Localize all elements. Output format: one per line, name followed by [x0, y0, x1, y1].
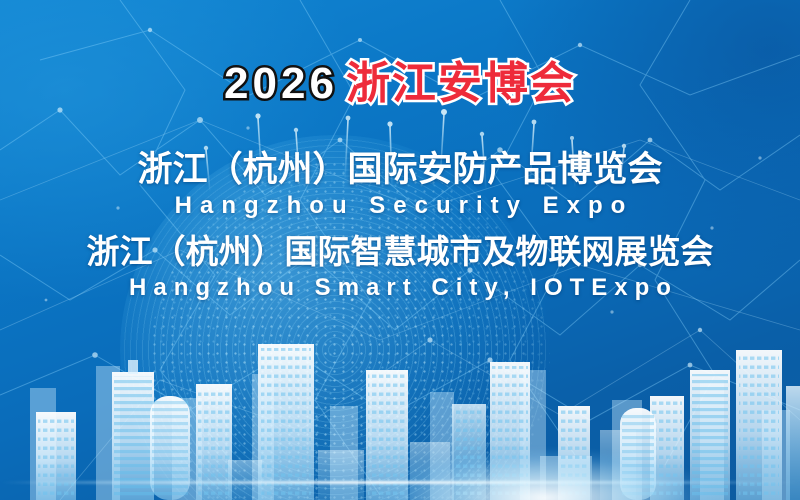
smart-city-expo-title-en: Hangzhou Smart City, IOTExpo	[0, 275, 800, 301]
security-expo-title-en: Hangzhou Security Expo	[0, 193, 800, 219]
expo-poster: 2026浙江安博会 浙江（杭州）国际安防产品博览会 Hangzhou Secur…	[0, 0, 800, 500]
expo-block-smart-city: 浙江（杭州）国际智慧城市及物联网展览会 Hangzhou Smart City,…	[0, 234, 800, 301]
smart-city-expo-title-zh: 浙江（杭州）国际智慧城市及物联网展览会	[0, 234, 800, 271]
poster-text-block: 2026浙江安博会 浙江（杭州）国际安防产品博览会 Hangzhou Secur…	[0, 0, 800, 301]
headline-event-name: 浙江安博会	[346, 59, 576, 108]
horizon-glow-graphic	[330, 408, 760, 500]
horizon-line-graphic	[0, 481, 800, 484]
poster-headline: 2026浙江安博会	[0, 0, 800, 106]
expo-block-security: 浙江（杭州）国际安防产品博览会 Hangzhou Security Expo	[0, 150, 800, 220]
headline-year: 2026	[224, 59, 338, 108]
security-expo-title-zh: 浙江（杭州）国际安防产品博览会	[0, 150, 800, 189]
